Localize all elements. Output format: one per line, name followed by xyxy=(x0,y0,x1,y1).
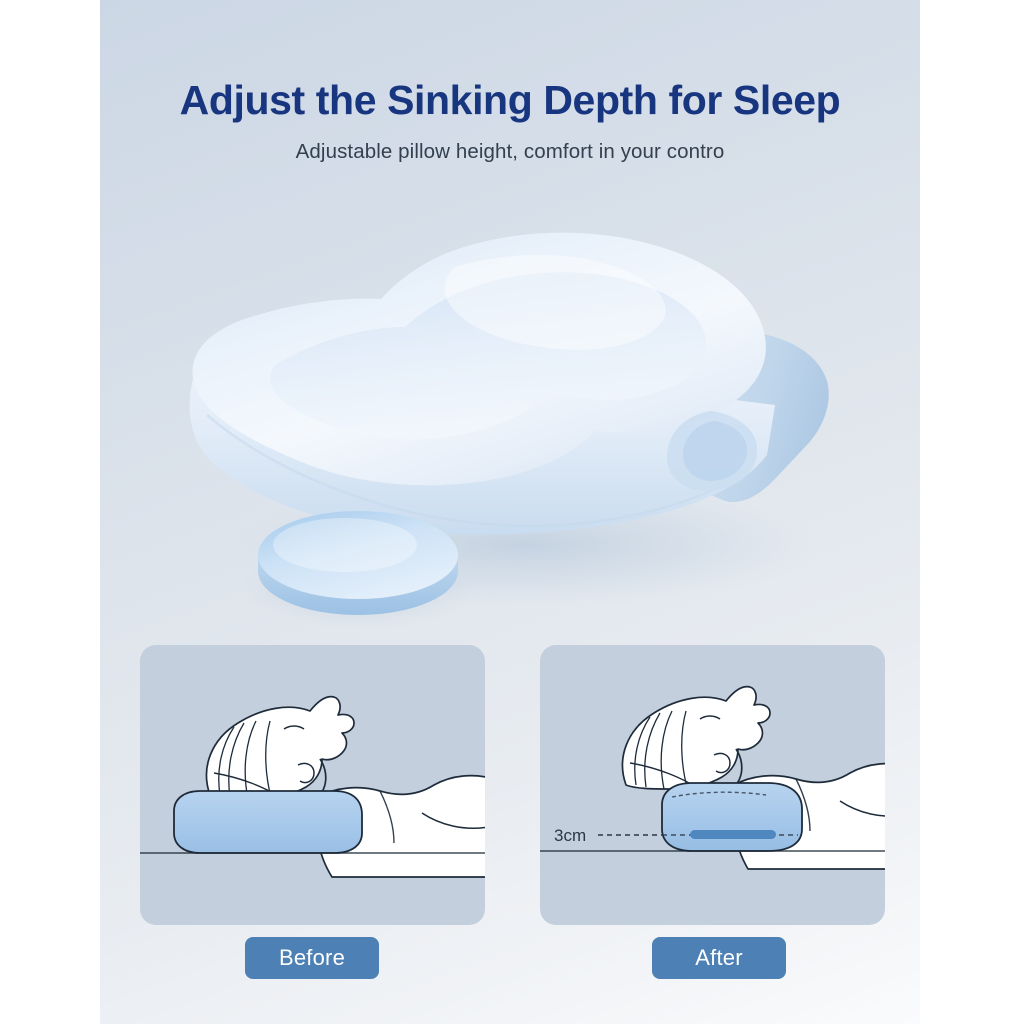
before-scene xyxy=(140,645,485,925)
badge-row: Before After xyxy=(140,937,885,983)
dimension-label: 3cm xyxy=(554,826,586,845)
comparison-panels: 3cm xyxy=(140,645,885,925)
panel-after: 3cm xyxy=(540,645,885,925)
heading-block: Adjust the Sinking Depth for Sleep Adjus… xyxy=(100,78,920,164)
insert-pad-gloss xyxy=(273,518,417,572)
content-area: Adjust the Sinking Depth for Sleep Adjus… xyxy=(100,0,920,1024)
pillow-before xyxy=(174,791,362,853)
badge-before[interactable]: Before xyxy=(245,937,379,979)
pillow-after xyxy=(662,783,802,851)
panel-before xyxy=(140,645,485,925)
infographic-canvas: Adjust the Sinking Depth for Sleep Adjus… xyxy=(0,0,1024,1024)
pillow-insert-bar xyxy=(690,830,776,839)
after-scene: 3cm xyxy=(540,645,885,925)
page-subtitle: Adjustable pillow height, comfort in you… xyxy=(100,140,920,164)
hero-product-image xyxy=(155,215,875,635)
badge-after[interactable]: After xyxy=(652,937,786,979)
page-title: Adjust the Sinking Depth for Sleep xyxy=(100,78,920,124)
